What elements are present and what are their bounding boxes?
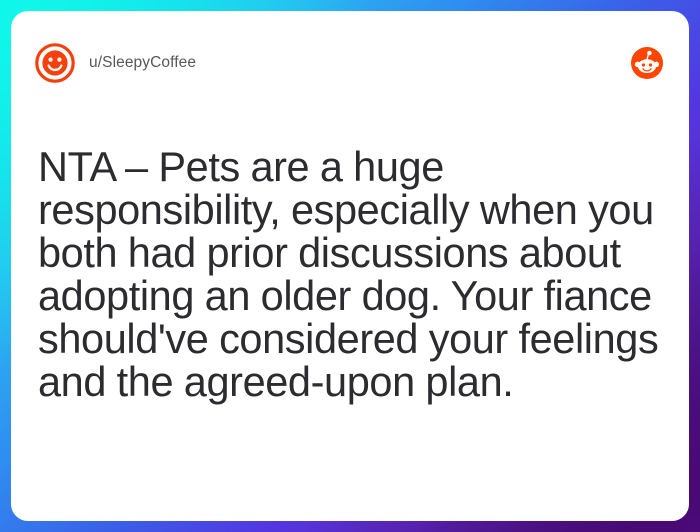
reddit-snoo-icon[interactable] — [631, 47, 663, 79]
comment-text: NTA – Pets are a huge responsibility, es… — [38, 145, 663, 403]
card-body: NTA – Pets are a huge responsibility, es… — [11, 115, 689, 403]
username-label: u/SleepyCoffee — [89, 54, 196, 72]
smiley-face-icon[interactable] — [35, 43, 75, 83]
screenshot-root: u/SleepyCoffee NTA – Pets ar — [0, 0, 700, 532]
card-header: u/SleepyCoffee — [11, 11, 689, 115]
reddit-comment-card: u/SleepyCoffee NTA – Pets ar — [11, 11, 689, 521]
